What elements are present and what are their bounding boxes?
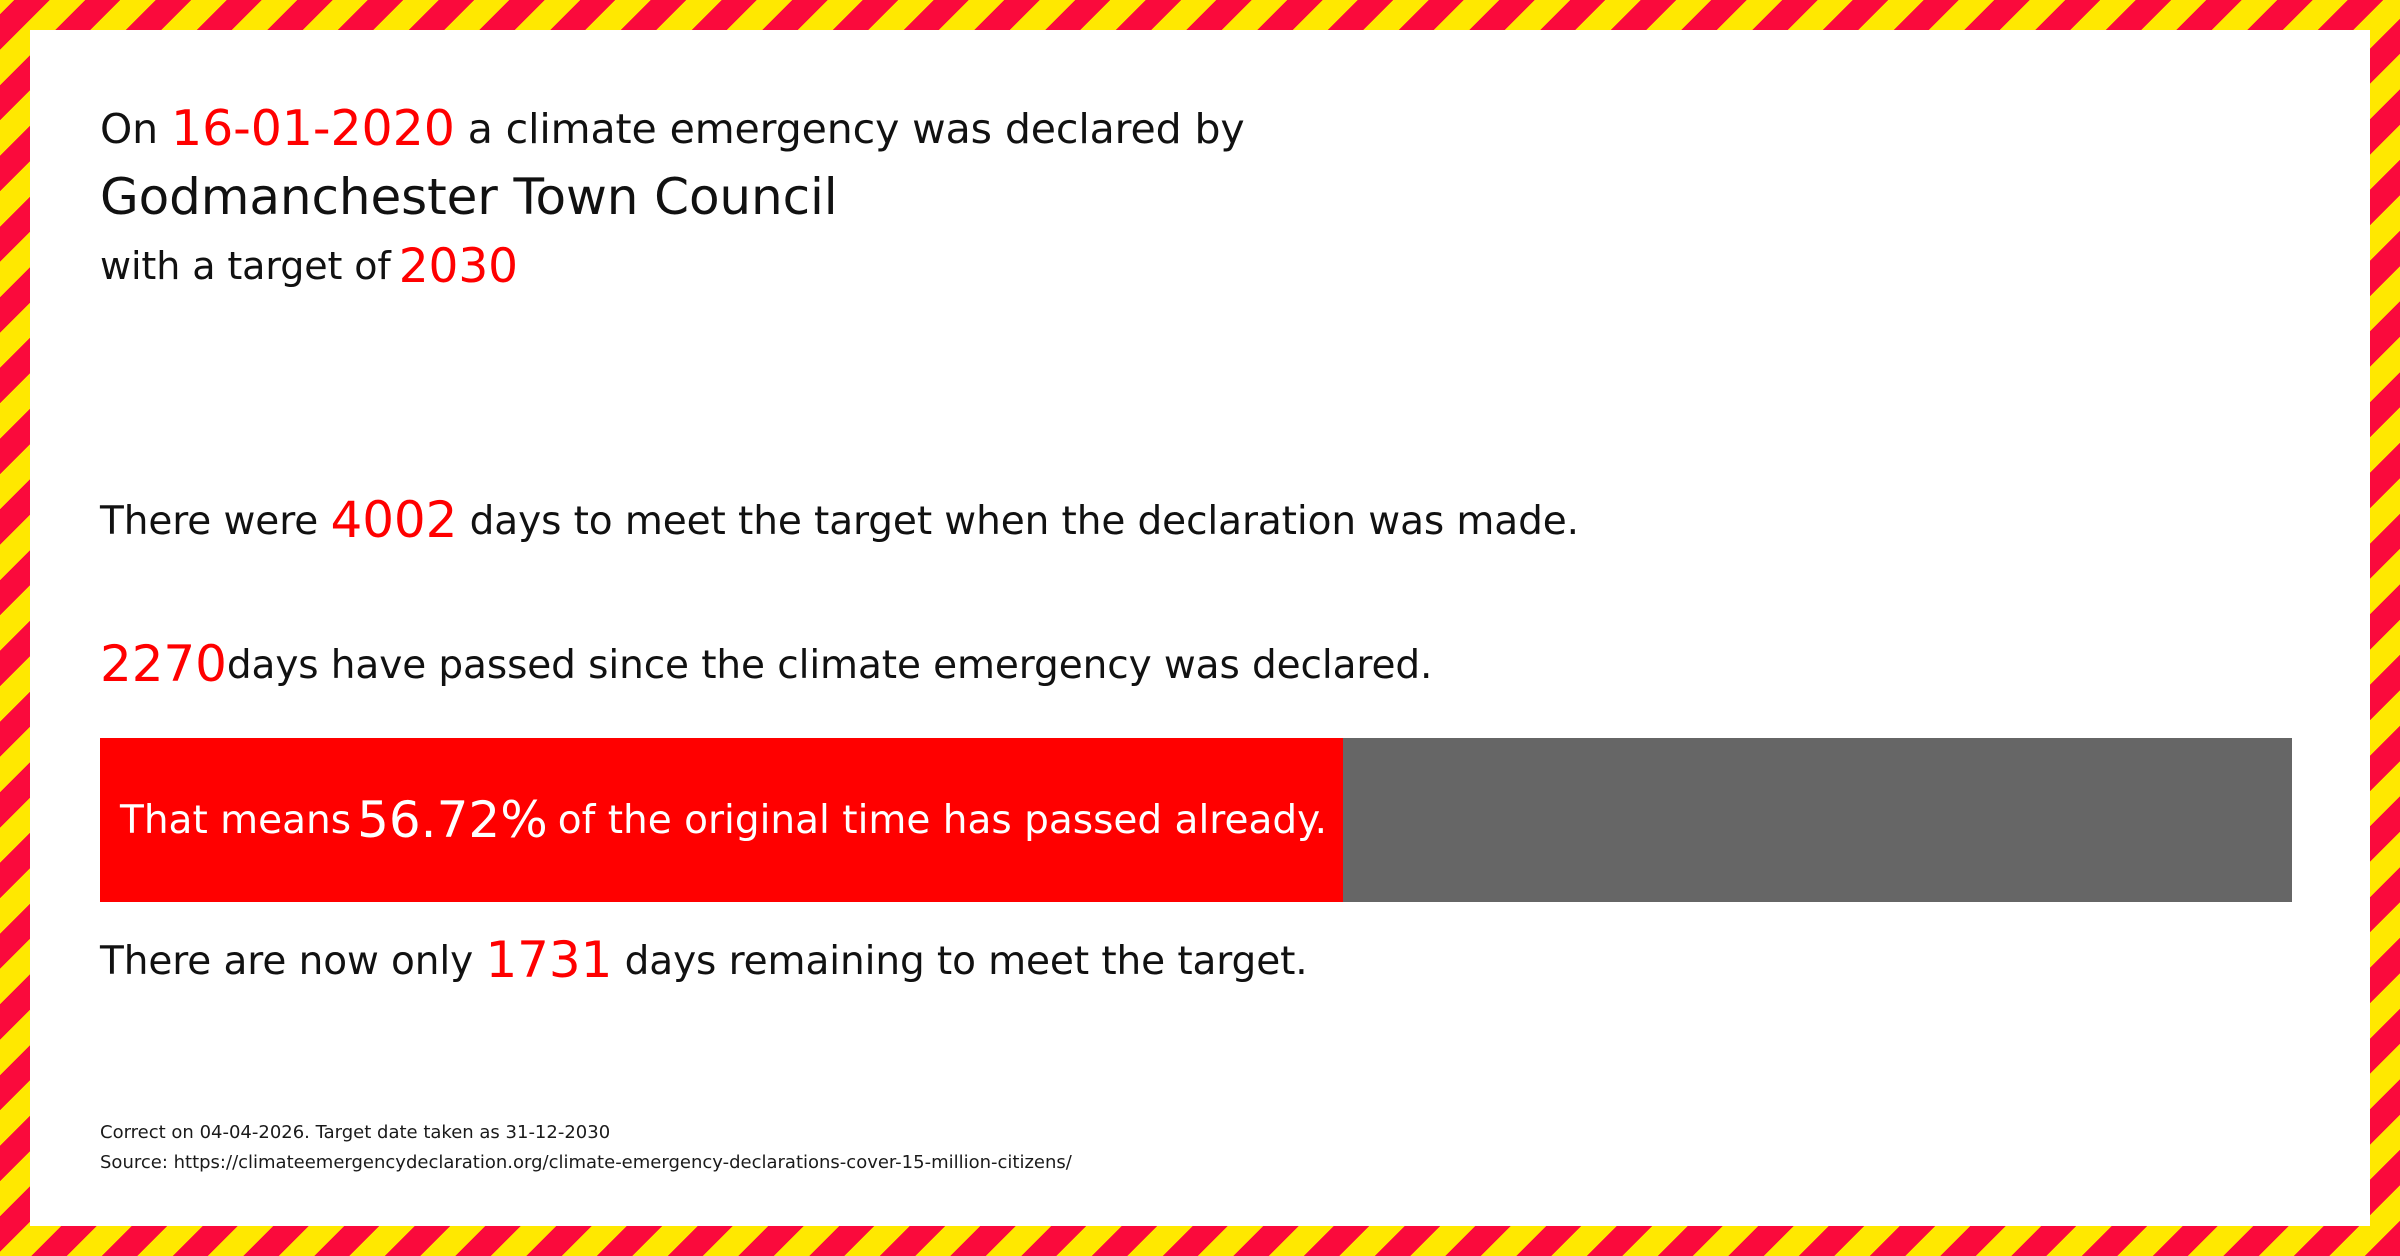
declaration-prefix: On: [100, 105, 158, 153]
target-prefix: with a target of: [100, 244, 391, 288]
progress-bar: That means 56.72% of the original time h…: [100, 738, 2292, 902]
target-line: with a target of2030: [100, 242, 518, 291]
original-window-days: 4002: [330, 491, 457, 549]
elapsed-days: 2270: [100, 635, 227, 693]
poster-card: On 16-01-2020 a climate emergency was de…: [30, 30, 2370, 1226]
progress-percent: 56.72%: [357, 791, 548, 849]
remaining-prefix: There are now only: [100, 939, 473, 984]
progress-bar-label: That means 56.72% of the original time h…: [120, 738, 1327, 902]
original-window-prefix: There were: [100, 499, 318, 544]
poster-content: On 16-01-2020 a climate emergency was de…: [100, 30, 2330, 1226]
declaration-date: 16-01-2020: [171, 100, 455, 157]
declaration-middle-text: a climate emergency was declared by: [468, 105, 1245, 153]
original-window-line: There were 4002 days to meet the target …: [100, 496, 1579, 546]
remaining-days: 1731: [485, 931, 612, 989]
remaining-suffix: days remaining to meet the target.: [625, 939, 1308, 984]
target-year: 2030: [399, 239, 518, 294]
declaration-line: On 16-01-2020 a climate emergency was de…: [100, 105, 1245, 153]
footnote-correct-on: Correct on 04-04-2026. Target date taken…: [100, 1118, 1072, 1148]
footnotes: Correct on 04-04-2026. Target date taken…: [100, 1118, 1072, 1178]
council-name: Godmanchester Town Council: [100, 165, 838, 229]
footnote-source: Source: https://climateemergencydeclarat…: [100, 1148, 1072, 1178]
progress-suffix: of the original time has passed already.: [558, 798, 1327, 843]
remaining-line: There are now only 1731 days remaining t…: [100, 936, 1308, 986]
elapsed-suffix: days have passed since the climate emerg…: [227, 643, 1432, 688]
original-window-suffix: days to meet the target when the declara…: [470, 499, 1579, 544]
progress-prefix: That means: [120, 798, 351, 843]
elapsed-line: 2270days have passed since the climate e…: [100, 640, 1432, 690]
hazard-border-frame: On 16-01-2020 a climate emergency was de…: [0, 0, 2400, 1256]
